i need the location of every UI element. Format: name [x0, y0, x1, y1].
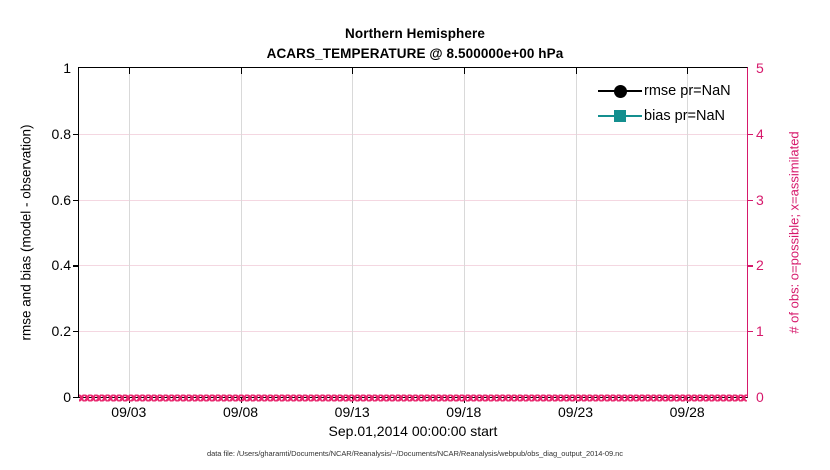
obs-assimilated-marker: x [153, 390, 160, 405]
chart-legend: rmse pr=NaN bias pr=NaN [598, 80, 731, 127]
x-tick [687, 397, 688, 403]
x-tick-label: 09/08 [223, 404, 258, 420]
obs-possible-marker: o [145, 390, 153, 405]
obs-assimilated-marker: x [171, 390, 178, 405]
obs-possible-marker: o [110, 390, 118, 405]
obs-assimilated-marker: x [159, 390, 166, 405]
obs-assimilated-marker: x [287, 390, 294, 405]
obs-assimilated-marker: x [83, 390, 90, 405]
y-tick-left [73, 331, 79, 332]
y-tick-label-right: 1 [756, 323, 764, 339]
obs-possible-marker: o [702, 390, 710, 405]
x-tick-label: 09/13 [335, 404, 370, 420]
obs-possible-marker: o [505, 390, 513, 405]
obs-possible-marker: o [604, 390, 612, 405]
obs-possible-marker: o [493, 390, 501, 405]
obs-assimilated-marker: x [519, 390, 526, 405]
obs-possible-marker: o [313, 390, 321, 405]
obs-possible-marker: o [336, 390, 344, 405]
obs-possible-marker: o [424, 390, 432, 405]
obs-assimilated-marker: x [89, 390, 96, 405]
obs-possible-marker: o [627, 390, 635, 405]
x-tick-label: 09/28 [670, 404, 705, 420]
obs-possible-marker: o [516, 390, 524, 405]
gridline-horizontal [79, 265, 747, 266]
obs-assimilated-marker: x [229, 390, 236, 405]
obs-assimilated-marker: x [118, 390, 125, 405]
obs-assimilated-marker: x [740, 390, 747, 405]
obs-assimilated-marker: x [653, 390, 660, 405]
obs-possible-marker: o [278, 390, 286, 405]
obs-possible-marker: o [104, 390, 112, 405]
x-tick [576, 397, 577, 403]
obs-possible-marker: o [470, 390, 478, 405]
obs-possible-marker: o [644, 390, 652, 405]
obs-assimilated-marker: x [676, 390, 683, 405]
obs-assimilated-marker: x [699, 390, 706, 405]
obs-assimilated-marker: x [728, 390, 735, 405]
obs-possible-marker: o [429, 390, 437, 405]
x-tick-top [687, 68, 688, 74]
gridline-vertical [464, 68, 465, 397]
obs-possible-marker: o [435, 390, 443, 405]
obs-assimilated-marker: x [536, 390, 543, 405]
obs-possible-marker: o [226, 390, 234, 405]
obs-possible-marker: o [151, 390, 159, 405]
obs-possible-marker: o [296, 390, 304, 405]
obs-possible-marker: o [447, 390, 455, 405]
obs-possible-marker: o [563, 390, 571, 405]
obs-possible-marker: o [540, 390, 548, 405]
legend-item-bias[interactable]: bias pr=NaN [598, 105, 731, 127]
obs-assimilated-marker: x [397, 390, 404, 405]
obs-possible-marker: o [273, 390, 281, 405]
obs-possible-marker: o [267, 390, 275, 405]
y-tick-label-left: 0.4 [52, 257, 71, 273]
legend-item-rmse[interactable]: rmse pr=NaN [598, 80, 731, 102]
obs-possible-marker: o [214, 390, 222, 405]
chart-title: Northern Hemisphere [345, 26, 485, 41]
obs-possible-marker: o [592, 390, 600, 405]
obs-possible-marker: o [261, 390, 269, 405]
gridline-horizontal [79, 200, 747, 201]
obs-possible-marker: o [737, 390, 745, 405]
obs-possible-marker: o [720, 390, 728, 405]
obs-assimilated-marker: x [525, 390, 532, 405]
obs-possible-marker: o [499, 390, 507, 405]
obs-assimilated-marker: x [687, 390, 694, 405]
x-tick [129, 397, 130, 403]
x-tick-top [352, 68, 353, 74]
obs-possible-marker: o [243, 390, 251, 405]
obs-assimilated-marker: x [444, 390, 451, 405]
obs-assimilated-marker: x [263, 390, 270, 405]
obs-possible-marker: o [290, 390, 298, 405]
y-tick-label-left: 1 [63, 60, 71, 76]
obs-assimilated-marker: x [722, 390, 729, 405]
obs-assimilated-marker: x [618, 390, 625, 405]
obs-assimilated-marker: x [211, 390, 218, 405]
obs-assimilated-marker: x [223, 390, 230, 405]
obs-assimilated-marker: x [409, 390, 416, 405]
obs-assimilated-marker: x [304, 390, 311, 405]
obs-assimilated-marker: x [478, 390, 485, 405]
obs-possible-marker: o [522, 390, 530, 405]
obs-possible-marker: o [197, 390, 205, 405]
legend-label-rmse: rmse pr=NaN [642, 83, 731, 99]
obs-assimilated-marker: x [403, 390, 410, 405]
obs-assimilated-marker: x [258, 390, 265, 405]
y-tick-label-right: 4 [756, 126, 764, 142]
obs-assimilated-marker: x [560, 390, 567, 405]
obs-assimilated-marker: x [339, 390, 346, 405]
obs-possible-marker: o [551, 390, 559, 405]
obs-possible-marker: o [697, 390, 705, 405]
y-axis-title-left-label: rmse and bias (model - observation) [19, 124, 34, 340]
obs-assimilated-marker: x [101, 390, 108, 405]
obs-possible-marker: o [418, 390, 426, 405]
obs-assimilated-marker: x [513, 390, 520, 405]
obs-assimilated-marker: x [496, 390, 503, 405]
obs-assimilated-marker: x [647, 390, 654, 405]
obs-possible-marker: o [685, 390, 693, 405]
circle-marker-icon [614, 85, 627, 98]
obs-assimilated-marker: x [490, 390, 497, 405]
obs-possible-marker: o [98, 390, 106, 405]
obs-possible-marker: o [731, 390, 739, 405]
obs-possible-marker: o [482, 390, 490, 405]
obs-possible-marker: o [638, 390, 646, 405]
y-tick-label-left: 0 [63, 389, 71, 405]
obs-assimilated-marker: x [554, 390, 561, 405]
y-axis-title-left: rmse and bias (model - observation) [16, 67, 36, 398]
obs-assimilated-marker: x [426, 390, 433, 405]
x-tick-top [464, 68, 465, 74]
obs-assimilated-marker: x [79, 390, 85, 405]
obs-assimilated-marker: x [95, 390, 102, 405]
obs-marker-row: oxoxoxoxoxoxoxoxoxoxoxoxoxoxoxoxoxoxoxox… [79, 390, 747, 405]
chart-subtitle: ACARS_TEMPERATURE @ 8.500000e+00 hPa [0, 44, 830, 64]
obs-assimilated-marker: x [112, 390, 119, 405]
gridline-vertical [129, 68, 130, 397]
obs-assimilated-marker: x [194, 390, 201, 405]
obs-possible-marker: o [156, 390, 164, 405]
y-tick-left [73, 200, 79, 201]
obs-possible-marker: o [342, 390, 350, 405]
obs-assimilated-marker: x [449, 390, 456, 405]
obs-assimilated-marker: x [107, 390, 114, 405]
gridline-horizontal [79, 331, 747, 332]
obs-assimilated-marker: x [205, 390, 212, 405]
obs-possible-marker: o [365, 390, 373, 405]
obs-assimilated-marker: x [589, 390, 596, 405]
obs-possible-marker: o [598, 390, 606, 405]
obs-assimilated-marker: x [130, 390, 137, 405]
obs-possible-marker: o [580, 390, 588, 405]
obs-assimilated-marker: x [606, 390, 613, 405]
obs-possible-marker: o [464, 390, 472, 405]
obs-possible-marker: o [284, 390, 292, 405]
obs-possible-marker: o [325, 390, 333, 405]
y-axis-title-right: # of obs: o=possible; x=assimilated [784, 67, 804, 398]
x-tick [464, 397, 465, 403]
x-tick-label: 09/23 [558, 404, 593, 420]
obs-assimilated-marker: x [600, 390, 607, 405]
obs-possible-marker: o [319, 390, 327, 405]
x-tick-label: 09/18 [446, 404, 481, 420]
obs-assimilated-marker: x [583, 390, 590, 405]
legend-marker-bias [598, 107, 642, 125]
y-tick-label-right: 5 [756, 60, 764, 76]
obs-assimilated-marker: x [217, 390, 224, 405]
y-tick-label-right: 3 [756, 192, 764, 208]
obs-assimilated-marker: x [717, 390, 724, 405]
obs-assimilated-marker: x [484, 390, 491, 405]
y-tick-left [73, 134, 79, 135]
obs-assimilated-marker: x [275, 390, 282, 405]
obs-assimilated-marker: x [176, 390, 183, 405]
y-tick-right [747, 331, 753, 332]
obs-possible-marker: o [714, 390, 722, 405]
obs-possible-marker: o [383, 390, 391, 405]
obs-possible-marker: o [191, 390, 199, 405]
obs-possible-marker: o [400, 390, 408, 405]
obs-assimilated-marker: x [746, 390, 747, 405]
obs-possible-marker: o [546, 390, 554, 405]
obs-possible-marker: o [203, 390, 211, 405]
obs-possible-marker: o [249, 390, 257, 405]
obs-assimilated-marker: x [362, 390, 369, 405]
obs-assimilated-marker: x [473, 390, 480, 405]
obs-possible-marker: o [139, 390, 147, 405]
obs-assimilated-marker: x [380, 390, 387, 405]
obs-assimilated-marker: x [200, 390, 207, 405]
obs-possible-marker: o [511, 390, 519, 405]
obs-assimilated-marker: x [124, 390, 131, 405]
obs-assimilated-marker: x [322, 390, 329, 405]
obs-assimilated-marker: x [356, 390, 363, 405]
obs-assimilated-marker: x [670, 390, 677, 405]
y-tick-label-left: 0.2 [52, 323, 71, 339]
y-tick-left [73, 265, 79, 266]
obs-possible-marker: o [609, 390, 617, 405]
y-tick-right [747, 265, 753, 266]
obs-assimilated-marker: x [414, 390, 421, 405]
obs-possible-marker: o [557, 390, 565, 405]
y-tick-label-left: 0.6 [52, 192, 71, 208]
obs-assimilated-marker: x [502, 390, 509, 405]
obs-assimilated-marker: x [182, 390, 189, 405]
obs-possible-marker: o [650, 390, 658, 405]
obs-assimilated-marker: x [595, 390, 602, 405]
obs-possible-marker: o [441, 390, 449, 405]
obs-possible-marker: o [232, 390, 240, 405]
obs-assimilated-marker: x [467, 390, 474, 405]
obs-assimilated-marker: x [542, 390, 549, 405]
obs-assimilated-marker: x [292, 390, 299, 405]
obs-assimilated-marker: x [385, 390, 392, 405]
square-marker-icon [614, 110, 626, 122]
obs-possible-marker: o [174, 390, 182, 405]
x-tick-top [241, 68, 242, 74]
obs-possible-marker: o [662, 390, 670, 405]
obs-possible-marker: o [116, 390, 124, 405]
y-tick-right [747, 134, 753, 135]
obs-possible-marker: o [377, 390, 385, 405]
obs-possible-marker: o [679, 390, 687, 405]
obs-possible-marker: o [331, 390, 339, 405]
obs-possible-marker: o [691, 390, 699, 405]
obs-possible-marker: o [185, 390, 193, 405]
obs-possible-marker: o [354, 390, 362, 405]
legend-marker-rmse [598, 82, 642, 100]
obs-possible-marker: o [534, 390, 542, 405]
obs-assimilated-marker: x [711, 390, 718, 405]
y-tick-label-right: 0 [756, 389, 764, 405]
obs-possible-marker: o [87, 390, 95, 405]
obs-possible-marker: o [360, 390, 368, 405]
obs-assimilated-marker: x [432, 390, 439, 405]
obs-assimilated-marker: x [298, 390, 305, 405]
obs-assimilated-marker: x [269, 390, 276, 405]
x-axis-title: Sep.01,2014 00:00:00 start [78, 423, 748, 439]
legend-label-bias: bias pr=NaN [642, 108, 725, 124]
obs-possible-marker: o [586, 390, 594, 405]
y-tick-left [73, 397, 79, 398]
obs-possible-marker: o [668, 390, 676, 405]
obs-assimilated-marker: x [624, 390, 631, 405]
obs-assimilated-marker: x [136, 390, 143, 405]
x-tick [241, 397, 242, 403]
obs-possible-marker: o [673, 390, 681, 405]
x-tick-label: 09/03 [111, 404, 146, 420]
obs-possible-marker: o [162, 390, 170, 405]
obs-assimilated-marker: x [147, 390, 154, 405]
obs-possible-marker: o [394, 390, 402, 405]
y-tick-right [747, 200, 753, 201]
obs-possible-marker: o [406, 390, 414, 405]
obs-possible-marker: o [79, 390, 83, 405]
x-tick-top [576, 68, 577, 74]
obs-possible-marker: o [220, 390, 228, 405]
obs-assimilated-marker: x [548, 390, 555, 405]
obs-possible-marker: o [633, 390, 641, 405]
obs-possible-marker: o [180, 390, 188, 405]
y-tick-label-right: 2 [756, 257, 764, 273]
x-tick-top [129, 68, 130, 74]
obs-possible-marker: o [307, 390, 315, 405]
obs-assimilated-marker: x [507, 390, 514, 405]
obs-possible-marker: o [133, 390, 141, 405]
page-title: Northern Hemisphere ACARS_TEMPERATURE @ … [0, 24, 830, 64]
obs-assimilated-marker: x [391, 390, 398, 405]
obs-assimilated-marker: x [705, 390, 712, 405]
obs-assimilated-marker: x [281, 390, 288, 405]
obs-possible-marker: o [168, 390, 176, 405]
obs-assimilated-marker: x [316, 390, 323, 405]
obs-possible-marker: o [302, 390, 310, 405]
obs-assimilated-marker: x [420, 390, 427, 405]
obs-assimilated-marker: x [455, 390, 462, 405]
gridline-horizontal [79, 134, 747, 135]
obs-possible-marker: o [81, 390, 89, 405]
x-tick [352, 397, 353, 403]
obs-assimilated-marker: x [345, 390, 352, 405]
obs-possible-marker: o [92, 390, 100, 405]
obs-possible-marker: o [389, 390, 397, 405]
obs-assimilated-marker: x [310, 390, 317, 405]
data-file-note: data file: /Users/gharamti/Documents/NCA… [0, 449, 830, 458]
obs-possible-marker: o [453, 390, 461, 405]
obs-assimilated-marker: x [531, 390, 538, 405]
obs-assimilated-marker: x [635, 390, 642, 405]
obs-assimilated-marker: x [246, 390, 253, 405]
obs-assimilated-marker: x [566, 390, 573, 405]
y-axis-title-right-label: # of obs: o=possible; x=assimilated [787, 131, 802, 333]
obs-assimilated-marker: x [612, 390, 619, 405]
obs-assimilated-marker: x [165, 390, 172, 405]
obs-assimilated-marker: x [658, 390, 665, 405]
obs-assimilated-marker: x [693, 390, 700, 405]
obs-assimilated-marker: x [333, 390, 340, 405]
obs-assimilated-marker: x [629, 390, 636, 405]
obs-possible-marker: o [743, 390, 747, 405]
obs-assimilated-marker: x [188, 390, 195, 405]
gridline-vertical [352, 68, 353, 397]
obs-possible-marker: o [487, 390, 495, 405]
obs-possible-marker: o [656, 390, 664, 405]
obs-possible-marker: o [371, 390, 379, 405]
obs-assimilated-marker: x [734, 390, 741, 405]
obs-assimilated-marker: x [327, 390, 334, 405]
obs-assimilated-marker: x [641, 390, 648, 405]
obs-possible-marker: o [476, 390, 484, 405]
gridline-vertical [576, 68, 577, 397]
obs-assimilated-marker: x [141, 390, 148, 405]
y-tick-label-left: 0.8 [52, 126, 71, 142]
obs-possible-marker: o [726, 390, 734, 405]
obs-possible-marker: o [412, 390, 420, 405]
obs-possible-marker: o [255, 390, 263, 405]
obs-assimilated-marker: x [368, 390, 375, 405]
obs-possible-marker: o [621, 390, 629, 405]
obs-assimilated-marker: x [438, 390, 445, 405]
obs-assimilated-marker: x [664, 390, 671, 405]
obs-possible-marker: o [708, 390, 716, 405]
obs-assimilated-marker: x [577, 390, 584, 405]
obs-assimilated-marker: x [374, 390, 381, 405]
obs-assimilated-marker: x [252, 390, 259, 405]
obs-possible-marker: o [209, 390, 217, 405]
obs-possible-marker: o [615, 390, 623, 405]
obs-possible-marker: o [528, 390, 536, 405]
gridline-vertical [241, 68, 242, 397]
obs-possible-marker: o [458, 390, 466, 405]
